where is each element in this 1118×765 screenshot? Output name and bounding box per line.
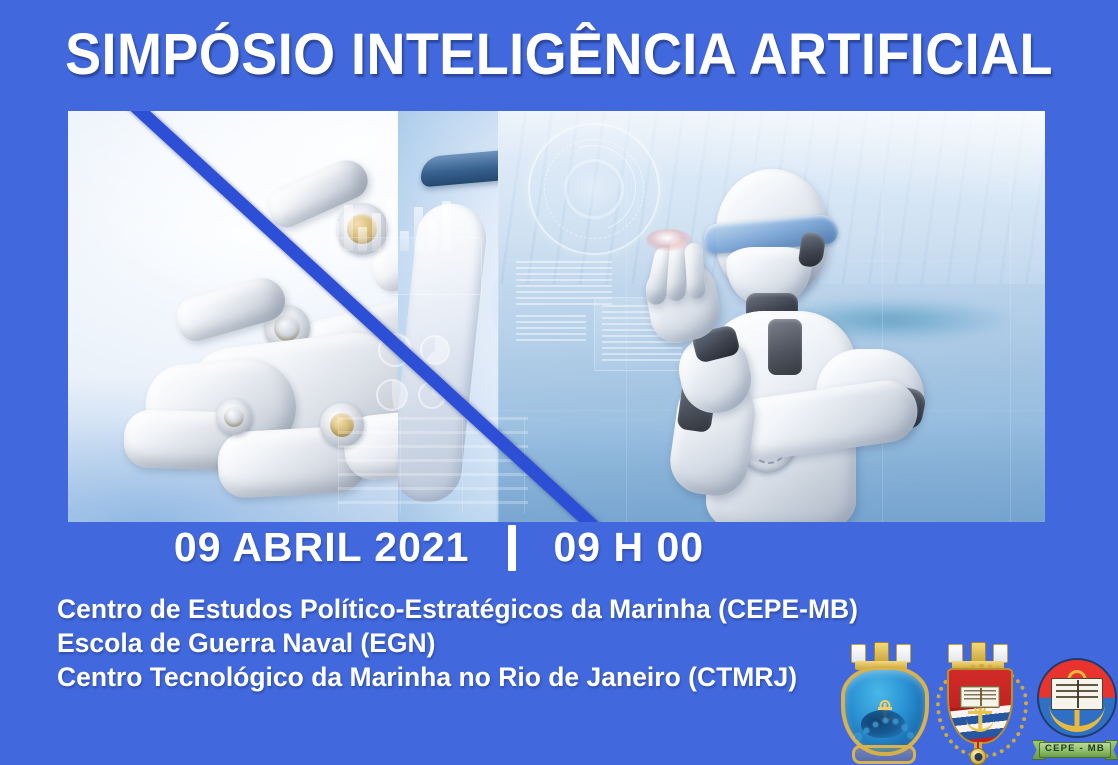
- robot-finger-3: [684, 242, 706, 299]
- hud-data-table: [338, 417, 528, 513]
- hud-pie-chart-4: [418, 381, 446, 409]
- egn-crest: [935, 642, 1021, 765]
- event-datetime-row: 09 ABRIL 202109 H 00: [0, 524, 1118, 571]
- hud-panel-1: [330, 237, 482, 295]
- page-title: SIMPÓSIO INTELIGÊNCIA ARTIFICIAL: [39, 26, 1079, 84]
- ctmrj-crest: [838, 642, 924, 765]
- institution-emblems: CEPE - MB: [838, 642, 1118, 765]
- cepe-circle: [1037, 658, 1117, 738]
- event-date: 09 ABRIL 2021: [174, 524, 470, 571]
- ctmrj-shield: [841, 666, 929, 756]
- medal-icon: [970, 748, 987, 765]
- institution-line-cepe: Centro de Estudos Político-Estratégicos …: [57, 592, 858, 626]
- hud-pie-chart-2: [420, 335, 450, 365]
- book-motto-text: [1056, 684, 1098, 700]
- robot-chest-vent: [768, 319, 802, 375]
- book-text: [964, 690, 996, 702]
- hud-pie-chart-3: [376, 379, 408, 411]
- cepe-banner: CEPE - MB: [1032, 739, 1118, 759]
- institutions-list: Centro de Estudos Político-Estratégicos …: [57, 592, 858, 694]
- cepe-mb-crest: CEPE - MB: [1032, 642, 1118, 765]
- humanoid-robot: [618, 151, 978, 522]
- institution-line-egn: Escola de Guerra Naval (EGN): [57, 626, 858, 660]
- event-time: 09 H 00: [554, 524, 705, 571]
- bubbles-icon: [853, 710, 917, 744]
- ai-robotics-composite-photo: [68, 111, 1045, 522]
- poster: SIMPÓSIO INTELIGÊNCIA ARTIFICIAL: [0, 0, 1118, 765]
- institution-line-ctmrj: Centro Tecnológico da Marinha no Rio de …: [57, 660, 858, 694]
- hud-pie-chart-1: [378, 333, 412, 367]
- ctmrj-rope-base: [852, 745, 916, 764]
- egn-shield: [947, 668, 1013, 744]
- cepe-banner-text: CEPE - MB: [1032, 743, 1118, 754]
- hologram-spark: [646, 229, 692, 251]
- datetime-separator: [508, 525, 516, 571]
- robot-hologram-scene: [498, 111, 1045, 522]
